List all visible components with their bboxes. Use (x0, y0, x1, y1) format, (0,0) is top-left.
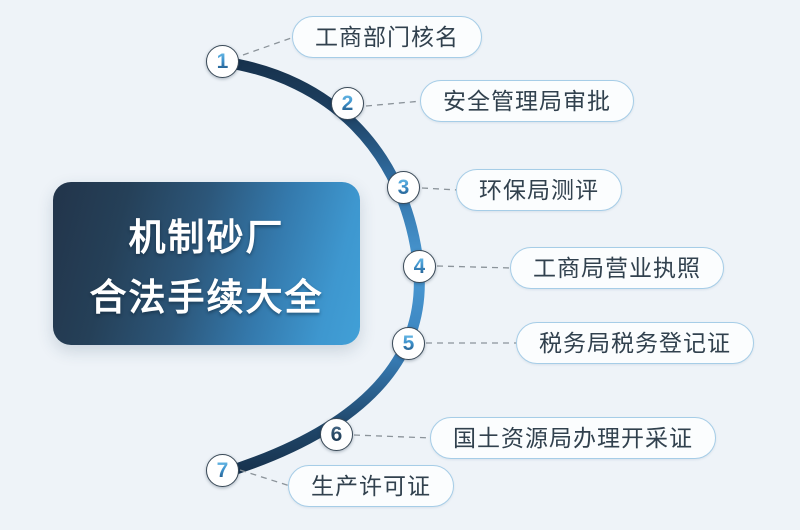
step-badge-1[interactable]: 1 (206, 45, 239, 78)
title-line-primary: 机制砂厂 (129, 207, 285, 261)
step-number-5: 5 (403, 333, 415, 354)
title-line-secondary: 合法手续大全 (90, 267, 324, 321)
infographic-canvas: 机制砂厂 合法手续大全 1 工商部门核名 2 安全管理局审批 3 环保局测评 4… (0, 0, 800, 530)
step-label-text-2: 安全管理局审批 (443, 90, 611, 113)
step-badge-3[interactable]: 3 (387, 171, 420, 204)
step-badge-4[interactable]: 4 (403, 250, 436, 283)
step-label-text-6: 国土资源局办理开采证 (453, 427, 693, 450)
connector-line-2 (366, 101, 422, 106)
step-number-7: 7 (217, 460, 229, 481)
connector-line-1 (243, 37, 294, 55)
step-badge-6[interactable]: 6 (320, 418, 353, 451)
connector-line-3 (422, 188, 458, 190)
step-label-text-5: 税务局税务登记证 (539, 332, 731, 355)
step-number-6: 6 (331, 424, 343, 445)
step-label-text-7: 生产许可证 (311, 475, 431, 498)
step-label-pill-5[interactable]: 税务局税务登记证 (516, 322, 754, 364)
connector-line-6 (354, 435, 432, 438)
step-number-3: 3 (398, 177, 410, 198)
step-label-pill-4[interactable]: 工商局营业执照 (510, 247, 724, 289)
step-label-pill-2[interactable]: 安全管理局审批 (420, 80, 634, 122)
title-card: 机制砂厂 合法手续大全 (53, 182, 360, 345)
step-label-pill-6[interactable]: 国土资源局办理开采证 (430, 417, 716, 459)
step-label-text-1: 工商部门核名 (315, 26, 459, 49)
step-label-text-4: 工商局营业执照 (533, 257, 701, 280)
step-number-1: 1 (217, 51, 229, 72)
step-label-pill-7[interactable]: 生产许可证 (288, 465, 454, 507)
step-number-4: 4 (414, 256, 426, 277)
connector-line-7 (240, 470, 290, 486)
step-number-2: 2 (342, 93, 354, 114)
step-label-text-3: 环保局测评 (479, 179, 599, 202)
connector-line-4 (437, 266, 512, 268)
step-badge-2[interactable]: 2 (331, 87, 364, 120)
step-badge-7[interactable]: 7 (206, 454, 239, 487)
step-badge-5[interactable]: 5 (392, 327, 425, 360)
step-label-pill-3[interactable]: 环保局测评 (456, 169, 622, 211)
step-label-pill-1[interactable]: 工商部门核名 (292, 16, 482, 58)
